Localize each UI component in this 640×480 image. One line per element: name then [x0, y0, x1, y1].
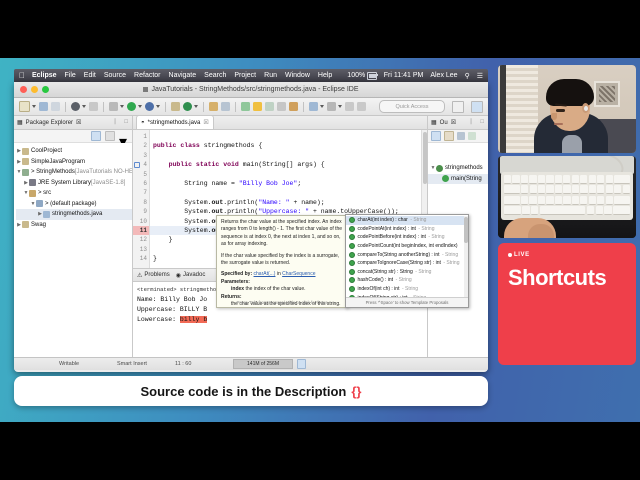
marker-icon[interactable] — [327, 102, 336, 111]
tab-problems-label: Problems — [144, 272, 169, 278]
package-explorer-icon: ▦ — [17, 119, 23, 126]
link-editor-icon[interactable] — [105, 131, 115, 141]
tree-item[interactable]: ▶Swag — [16, 220, 132, 231]
outline-toolbar[interactable] — [428, 130, 488, 143]
control-center-icon[interactable]: ☰ — [477, 72, 483, 80]
editor-tab-stringmethods[interactable]: ◓ *stringmethods.java ☒ — [136, 115, 214, 129]
completion-footer-hint: Press '^Space' to show Template Proposal… — [346, 297, 468, 307]
new-package-icon[interactable] — [183, 102, 192, 111]
eclipse-window: JavaTutorials - StringMethods/src/string… — [14, 82, 488, 372]
console-line: Lowercase: billy b — [137, 315, 423, 325]
menu-item-project[interactable]: Project — [234, 72, 256, 79]
chevron-down-icon[interactable] — [138, 105, 142, 108]
tree-item-label: > (default package) — [45, 201, 97, 207]
outline-item[interactable]: ▼stringmethods — [428, 163, 488, 174]
status-writable: Writable — [59, 361, 117, 367]
line-number: 3 — [133, 151, 149, 160]
line-number: 6 — [133, 179, 149, 188]
completion-scrollbar[interactable] — [464, 216, 468, 297]
javadoc-paragraph-1: Returns the char value at the specified … — [221, 219, 343, 249]
line-number: 8 — [133, 198, 149, 207]
tab-close-icon[interactable]: ☒ — [76, 119, 81, 126]
person-mouth — [554, 123, 563, 125]
status-cursor-position: 11 : 60 — [175, 361, 233, 367]
shortcuts-card: LIVE Shortcuts — [498, 243, 636, 365]
code-line[interactable] — [150, 132, 421, 141]
toolbar-separator — [303, 102, 304, 112]
console-line-text: Lowercase: — [137, 316, 180, 323]
view-menu-chevron-icon[interactable]: ▾ — [119, 132, 127, 140]
method-icon — [349, 234, 355, 240]
package-explorer-panel: ▦ Package Explorer ☒ ⎸ □ ▾ ▶CoolProject▶… — [14, 116, 133, 357]
completion-item[interactable]: codePointBefore(int index) : int - Strin… — [346, 233, 468, 242]
project-tree[interactable]: ▶CoolProject▶SimpleJavaProgram▼> StringM… — [14, 143, 132, 357]
debug-icon[interactable] — [71, 102, 80, 111]
toolbar-separator — [165, 102, 166, 112]
tree-item-label: SimpleJavaProgram — [31, 159, 85, 165]
line-number: 9 — [133, 207, 149, 216]
line-number: 2 — [133, 141, 149, 150]
java-file-icon: ◓ — [141, 120, 145, 126]
tree-node-icon — [36, 200, 43, 207]
line-number: 5 — [133, 170, 149, 179]
back-icon[interactable] — [345, 102, 354, 111]
keyboard-row — [504, 175, 630, 184]
apple-logo-icon[interactable]:  — [19, 71, 25, 80]
toolbar-separator — [103, 102, 104, 112]
tree-item[interactable]: ▶SimpleJavaProgram — [16, 157, 132, 168]
collapse-all-icon[interactable] — [431, 131, 441, 141]
completion-item-owner: - String — [402, 286, 418, 292]
step-icon[interactable] — [309, 102, 318, 111]
javadoc-icon: ◉ — [176, 272, 181, 279]
new-icon[interactable] — [19, 101, 30, 112]
javadoc-specified-by-label: Specified by: — [221, 271, 252, 277]
webcam-facecam — [498, 65, 636, 153]
forward-icon[interactable] — [357, 102, 366, 111]
tree-item-label: JRE System Library — [38, 180, 91, 186]
line-number: 10 — [133, 217, 149, 226]
wall-art — [594, 81, 620, 107]
person-hair — [546, 79, 594, 106]
package-explorer-tab-label: Package Explorer — [26, 120, 73, 126]
menu-item-file[interactable]: File — [65, 72, 76, 79]
method-icon — [349, 260, 355, 266]
package-explorer-toolbar[interactable]: ▾ — [14, 130, 132, 143]
tree-node-icon — [29, 179, 36, 186]
editor-tab-label: *stringmethods.java — [148, 120, 201, 126]
external-tools-icon[interactable] — [89, 102, 98, 111]
view-menu-icon[interactable]: ⎸ □ — [471, 119, 485, 126]
package-explorer-tab[interactable]: ▦ Package Explorer ☒ ⎸ □ — [14, 116, 132, 130]
completion-item[interactable]: charAt(int index) : char - String — [346, 216, 468, 225]
completion-item-signature: concat(String str) : String — [358, 269, 413, 275]
javadoc-param-name: index — [231, 286, 244, 292]
eclipse-toolbar[interactable]: Quick Access — [14, 98, 488, 116]
method-icon — [349, 243, 355, 249]
method-icon — [349, 269, 355, 275]
completion-item[interactable]: concat(String str) : String - String — [346, 268, 468, 277]
code-editor-area[interactable]: 1234567891011121314 public class stringm… — [133, 130, 427, 268]
method-icon — [349, 252, 355, 258]
line-number: 12 — [133, 235, 149, 244]
tree-item-label: Swag — [31, 222, 46, 228]
person-shirt — [562, 135, 582, 153]
java-perspective-button[interactable] — [471, 101, 483, 113]
menu-bar-username[interactable]: Alex Lee — [430, 72, 457, 79]
settings-icon[interactable] — [109, 102, 118, 111]
method-icon — [442, 175, 449, 182]
code-line[interactable]: public static void main(String[] args) { — [150, 160, 421, 169]
tree-node-icon — [22, 148, 29, 155]
view-menu-icon[interactable]: ⎸ □ — [115, 119, 129, 126]
sort-icon[interactable] — [444, 131, 454, 141]
lower-third-banner: Source code is in the Description {} — [14, 376, 488, 406]
completion-item-signature: codePointBefore(int index) : int — [358, 234, 426, 240]
status-insert-mode: Smart Insert — [117, 361, 175, 367]
tree-item[interactable]: ▶stringmethods.java — [16, 209, 132, 220]
eclipse-main-body: ▦ Package Explorer ☒ ⎸ □ ▾ ▶CoolProject▶… — [14, 116, 488, 357]
tree-item[interactable]: ▼> src — [16, 188, 132, 199]
line-number: 14 — [133, 254, 149, 263]
tree-item[interactable]: ▼> StringMethods [JavaTutorials NO-HE — [16, 167, 132, 178]
eclipse-status-bar: Writable Smart Insert 11 : 60 141M of 25… — [14, 357, 488, 370]
garbage-collect-icon[interactable] — [297, 359, 306, 369]
hide-fields-icon[interactable] — [457, 132, 465, 140]
hide-static-icon[interactable] — [468, 132, 476, 140]
completion-list[interactable]: charAt(int index) : char - StringcodePoi… — [346, 215, 468, 303]
link-icon[interactable] — [241, 102, 250, 111]
completion-item[interactable]: indexOf(int ch) : int - String — [346, 285, 468, 294]
method-icon — [349, 217, 355, 223]
facecam-scene — [498, 65, 636, 153]
line-number: 13 — [133, 245, 149, 254]
chevron-down-icon[interactable] — [120, 105, 124, 108]
tree-item-label: > src — [38, 190, 51, 196]
editor-line-gutter: 1234567891011121314 — [133, 130, 150, 268]
collapse-all-icon[interactable] — [91, 131, 101, 141]
window-titlebar[interactable]: JavaTutorials - StringMethods/src/string… — [14, 82, 488, 98]
console-line-text: Name: Billy Bob Jo — [137, 296, 207, 303]
override-marker-icon — [134, 162, 140, 168]
live-dot-icon — [508, 253, 512, 257]
code-line[interactable] — [150, 151, 421, 160]
outline-icon: ▦ — [431, 119, 437, 126]
status-memory-indicator[interactable]: 141M of 256M — [233, 359, 293, 369]
editor-column: ◓ *stringmethods.java ☒ 1234567891011121… — [133, 116, 427, 357]
run-icon[interactable] — [127, 102, 136, 111]
completion-item-signature: indexOf(int ch) : int — [358, 286, 400, 292]
menu-item-navigate[interactable]: Navigate — [169, 72, 197, 79]
keyboard-row — [504, 206, 630, 215]
menu-item-source[interactable]: Source — [104, 72, 126, 79]
menu-item-edit[interactable]: Edit — [84, 72, 96, 79]
completion-item-owner: - String — [442, 252, 458, 258]
tree-node-icon — [29, 190, 36, 197]
outline-item-label: main(String — [451, 176, 482, 182]
code-completion-popup[interactable]: charAt(int index) : char - StringcodePoi… — [345, 214, 469, 308]
menu-item-refactor[interactable]: Refactor — [134, 72, 160, 79]
chevron-down-icon[interactable] — [156, 105, 160, 108]
tree-node-icon — [22, 169, 29, 176]
search-icon[interactable] — [221, 102, 230, 111]
warning-icon[interactable] — [253, 102, 262, 111]
window-title-text: JavaTutorials - StringMethods/src/string… — [151, 86, 358, 93]
perspective-icon[interactable] — [265, 102, 274, 111]
chevron-down-icon[interactable] — [320, 105, 324, 108]
tree-node-icon — [22, 221, 29, 228]
completion-item-owner: - String — [415, 269, 431, 275]
outline-tab-label: Ou — [440, 120, 448, 126]
macos-menu-bar[interactable]:  Eclipse File Edit Source Refactor Navi… — [14, 69, 488, 82]
method-icon — [349, 277, 355, 283]
open-perspective-button[interactable] — [452, 101, 464, 113]
keyboard-row — [504, 196, 630, 205]
javadoc-paragraph-2: If the char value specified by the index… — [221, 253, 343, 268]
toolbar-separator — [203, 102, 204, 112]
tab-problems[interactable]: ⚠ Problems — [137, 272, 170, 279]
battery-percent-label: 100% — [347, 72, 365, 79]
completion-item-owner: - String — [396, 277, 412, 283]
tree-item[interactable]: ▶CoolProject — [16, 146, 132, 157]
outline-item[interactable]: main(String — [428, 174, 488, 185]
completion-item-signature: charAt(int index) : char — [358, 217, 408, 223]
completion-item-signature: codePointCount(int beginIndex, int endIn… — [358, 243, 458, 249]
completion-item-signature: codePointAt(int index) : int — [358, 226, 416, 232]
toolbar-separator — [65, 102, 66, 112]
tree-node-icon — [43, 211, 50, 218]
outline-item-label: stringmethods — [445, 165, 483, 171]
javadoc-parameters-label: Parameters: — [221, 279, 250, 285]
method-icon — [349, 286, 355, 292]
chevron-down-icon[interactable] — [338, 105, 342, 108]
earbud-icon — [584, 106, 588, 111]
tree-item[interactable]: ▶JRE System Library [JavaSE-1.8] — [16, 178, 132, 189]
quick-access-input[interactable]: Quick Access — [379, 100, 445, 113]
completion-item[interactable]: compareTo(String anotherString) : int - … — [346, 250, 468, 259]
code-line[interactable]: public class stringmethods { — [150, 141, 421, 150]
javadoc-hover-popup: Returns the char value at the specified … — [216, 215, 348, 308]
window-title: JavaTutorials - StringMethods/src/string… — [14, 86, 488, 93]
javadoc-charsequence-link[interactable]: CharSequence — [282, 271, 315, 277]
coverage-icon[interactable] — [145, 102, 154, 111]
chevron-down-icon[interactable] — [82, 105, 86, 108]
tree-item-detail: [JavaTutorials NO-HE — [75, 169, 132, 175]
method-icon — [349, 226, 355, 232]
code-line[interactable]: System.out.println("Name: " + name); — [150, 198, 421, 207]
chevron-down-icon[interactable] — [194, 105, 198, 108]
menu-bar-clock: Fri 11:41 PM — [384, 72, 424, 79]
line-number: 11 — [133, 226, 149, 235]
banner-text: Source code is in the Description — [140, 384, 346, 399]
chevron-down-icon[interactable] — [32, 105, 36, 108]
toolbar-separator — [235, 102, 236, 112]
line-number: 1 — [133, 132, 149, 141]
live-badge-label: LIVE — [514, 252, 530, 258]
tab-close-icon[interactable]: ☒ — [203, 119, 208, 126]
view-icon[interactable] — [277, 102, 286, 111]
code-line[interactable] — [150, 188, 421, 197]
code-line[interactable]: String name = "Billy Bob Joe"; — [150, 179, 421, 188]
person-nose — [551, 113, 557, 120]
webcam-keyboardcam — [498, 156, 636, 238]
tree-item-label: CoolProject — [31, 148, 62, 154]
problems-icon: ⚠ — [137, 272, 142, 279]
live-badge: LIVE — [508, 252, 626, 258]
completion-item-signature: compareToIgnoreCase(String str) : int — [358, 260, 441, 266]
open-type-icon[interactable] — [209, 102, 218, 111]
document-icon — [143, 87, 148, 92]
mechanical-keyboard — [501, 172, 633, 220]
tab-javadoc[interactable]: ◉ Javadoc — [176, 272, 206, 279]
editor-tabstrip[interactable]: ◓ *stringmethods.java ☒ — [133, 116, 427, 130]
menu-item-search[interactable]: Search — [204, 72, 226, 79]
javadoc-footer-hint: Press 'Tab' from proposal table or click… — [217, 299, 347, 306]
class-icon — [436, 165, 443, 172]
tree-item-detail: [JavaSE-1.8] — [91, 180, 125, 186]
tree-item[interactable]: ▼> (default package) — [16, 199, 132, 210]
menu-item-run[interactable]: Run — [264, 72, 277, 79]
completion-item-signature: hashCode() : int — [358, 277, 394, 283]
battery-icon — [367, 72, 377, 80]
javadoc-param-desc: the index of the char value. — [244, 286, 305, 292]
shortcuts-title: Shortcuts — [508, 265, 626, 291]
completion-item-owner: - String — [418, 226, 434, 232]
completion-item-owner: - String — [428, 234, 444, 240]
completion-item[interactable]: codePointCount(int beginIndex, int endIn… — [346, 242, 468, 251]
menu-item-window[interactable]: Window — [285, 72, 310, 79]
javadoc-specified-by-link[interactable]: charAt(...) — [254, 271, 276, 277]
line-number: 4 — [133, 160, 149, 169]
stream-canvas:  Eclipse File Edit Source Refactor Navi… — [0, 0, 640, 480]
keyboard-row — [504, 185, 630, 194]
line-number: 7 — [133, 188, 149, 197]
completion-item[interactable]: compareToIgnoreCase(String str) : int - … — [346, 259, 468, 268]
completion-item-owner: - String — [410, 217, 426, 223]
code-line[interactable] — [150, 170, 421, 179]
menu-item-help[interactable]: Help — [318, 72, 332, 79]
save-icon[interactable] — [39, 102, 48, 111]
search-icon[interactable]: ⚲ — [465, 72, 470, 80]
tab-javadoc-label: Javadoc — [183, 272, 205, 278]
new-class-icon[interactable] — [171, 102, 180, 111]
tree-item-label: > StringMethods — [31, 169, 75, 175]
menu-item-eclipse[interactable]: Eclipse — [32, 72, 57, 79]
pin-icon[interactable] — [289, 102, 298, 111]
banner-brace-icon: {} — [351, 384, 361, 399]
tree-node-icon — [22, 158, 29, 165]
tab-close-icon[interactable]: ☒ — [451, 119, 456, 126]
completion-item-signature: compareTo(String anotherString) : int — [358, 252, 440, 258]
save-all-icon[interactable] — [51, 102, 60, 111]
console-line-text: Uppercase: BILLY B — [137, 306, 207, 313]
completion-item-owner: - String — [443, 260, 459, 266]
outline-tab[interactable]: ▦ Ou ☒ ⎸ □ — [428, 116, 488, 130]
tree-item-label: stringmethods.java — [52, 211, 102, 217]
completion-item[interactable]: hashCode() : int - String — [346, 276, 468, 285]
console-selection-highlight: billy b — [180, 316, 207, 323]
completion-item[interactable]: codePointAt(int index) : int - String — [346, 225, 468, 234]
person-eye — [556, 109, 565, 112]
